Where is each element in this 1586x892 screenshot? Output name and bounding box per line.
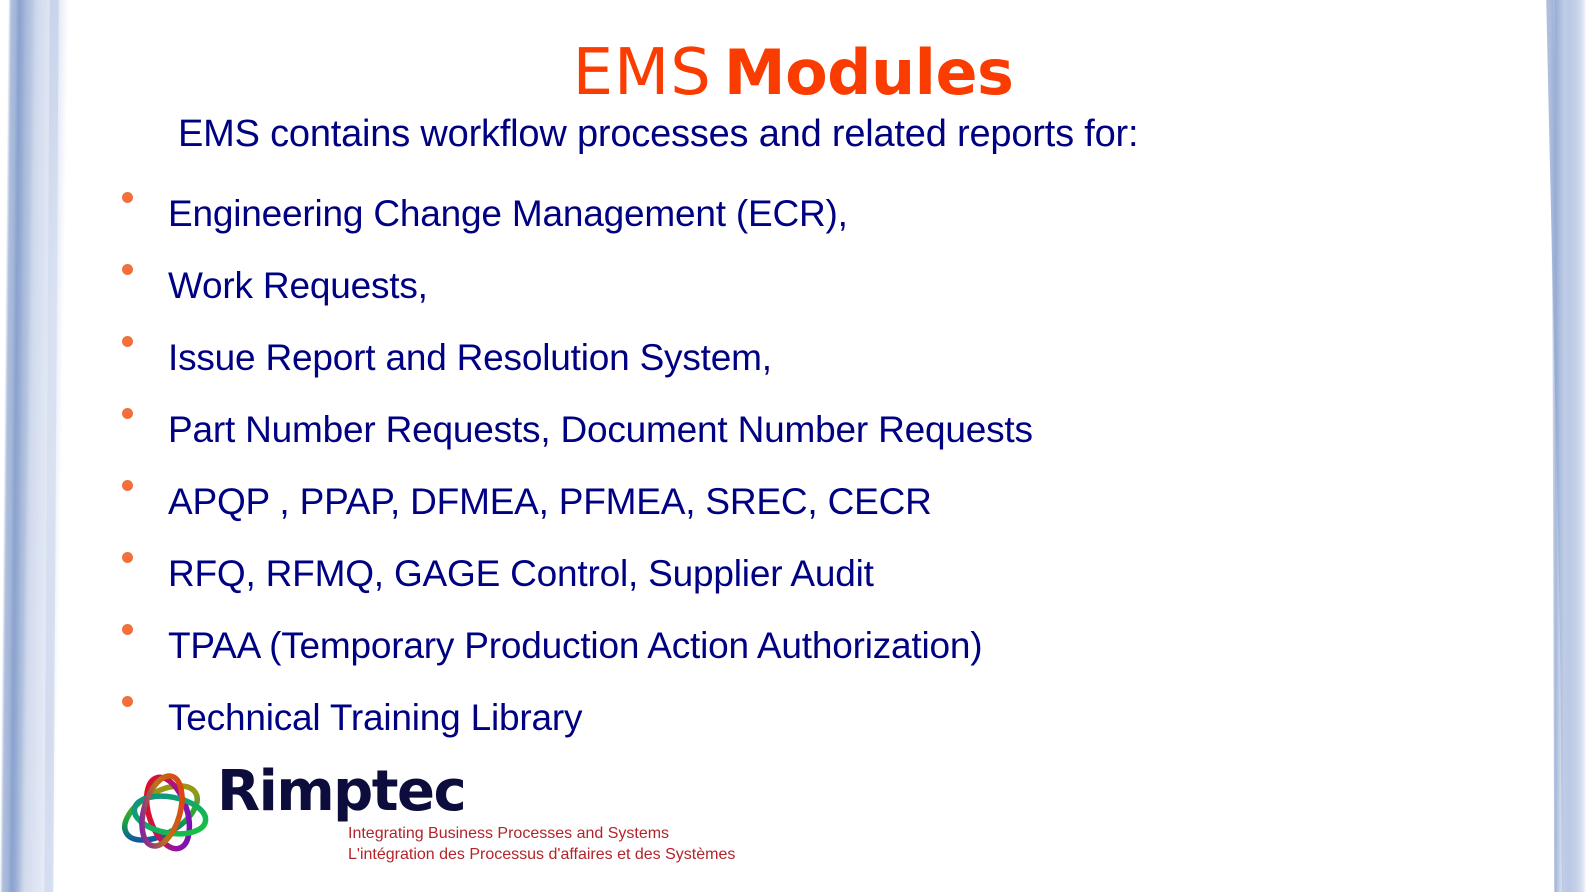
list-item-label: Issue Report and Resolution System, — [168, 329, 1498, 380]
right-border-highlight-streak — [1550, 0, 1564, 892]
list-item-label: Part Number Requests, Document Number Re… — [168, 401, 1498, 452]
bullet-dot-icon — [122, 624, 133, 635]
right-border-stroke — [1521, 0, 1586, 892]
list-item-label: Engineering Change Management (ECR), — [168, 185, 1498, 236]
logo-wordmark: Rimptec — [217, 759, 465, 824]
bullet-dot-icon — [122, 336, 133, 347]
rimptec-logo: Rimptec Integrating Business Processes a… — [112, 757, 792, 872]
slide-title: EMSModules — [0, 36, 1586, 110]
bullet-dot-icon — [122, 696, 133, 707]
logo-tagline: Integrating Business Processes and Syste… — [348, 823, 735, 865]
slide-canvas: EMSModules EMS contains workflow process… — [0, 0, 1586, 892]
bullet-dot-icon — [122, 192, 133, 203]
logo-tagline-fr: L'intégration des Processus d'affaires e… — [348, 844, 735, 865]
list-item-label: Technical Training Library — [168, 689, 1498, 740]
list-item: Technical Training Library — [118, 689, 1498, 761]
bullet-dot-icon — [122, 408, 133, 419]
bullet-dot-icon — [122, 552, 133, 563]
list-item: Engineering Change Management (ECR), — [118, 185, 1498, 257]
list-item: APQP , PPAP, DFMEA, PFMEA, SREC, CECR — [118, 473, 1498, 545]
bullet-dot-icon — [122, 480, 133, 491]
slide-subtitle: EMS contains workflow processes and rela… — [178, 113, 1138, 156]
list-item-label: Work Requests, — [168, 257, 1498, 308]
title-part-ems: EMS — [573, 36, 712, 110]
logo-tagline-en: Integrating Business Processes and Syste… — [348, 823, 735, 844]
list-item: Work Requests, — [118, 257, 1498, 329]
list-item-label: TPAA (Temporary Production Action Author… — [168, 617, 1498, 668]
left-border-highlight-streak — [8, 0, 26, 892]
bullet-dot-icon — [122, 264, 133, 275]
list-item-label: APQP , PPAP, DFMEA, PFMEA, SREC, CECR — [168, 473, 1498, 524]
module-bullet-list: Engineering Change Management (ECR), Wor… — [118, 185, 1498, 761]
list-item: Issue Report and Resolution System, — [118, 329, 1498, 401]
list-item: RFQ, RFMQ, GAGE Control, Supplier Audit — [118, 545, 1498, 617]
left-border-stroke-secondary — [19, 0, 69, 892]
list-item: TPAA (Temporary Production Action Author… — [118, 617, 1498, 689]
left-border-stroke — [0, 0, 61, 892]
right-border-stroke-taper — [1536, 0, 1586, 892]
list-item-label: RFQ, RFMQ, GAGE Control, Supplier Audit — [168, 545, 1498, 596]
left-border-thin-stroke — [44, 0, 58, 892]
list-item: Part Number Requests, Document Number Re… — [118, 401, 1498, 473]
title-part-modules: Modules — [724, 36, 1014, 109]
four-overlapping-ellipses-icon — [112, 761, 216, 865]
